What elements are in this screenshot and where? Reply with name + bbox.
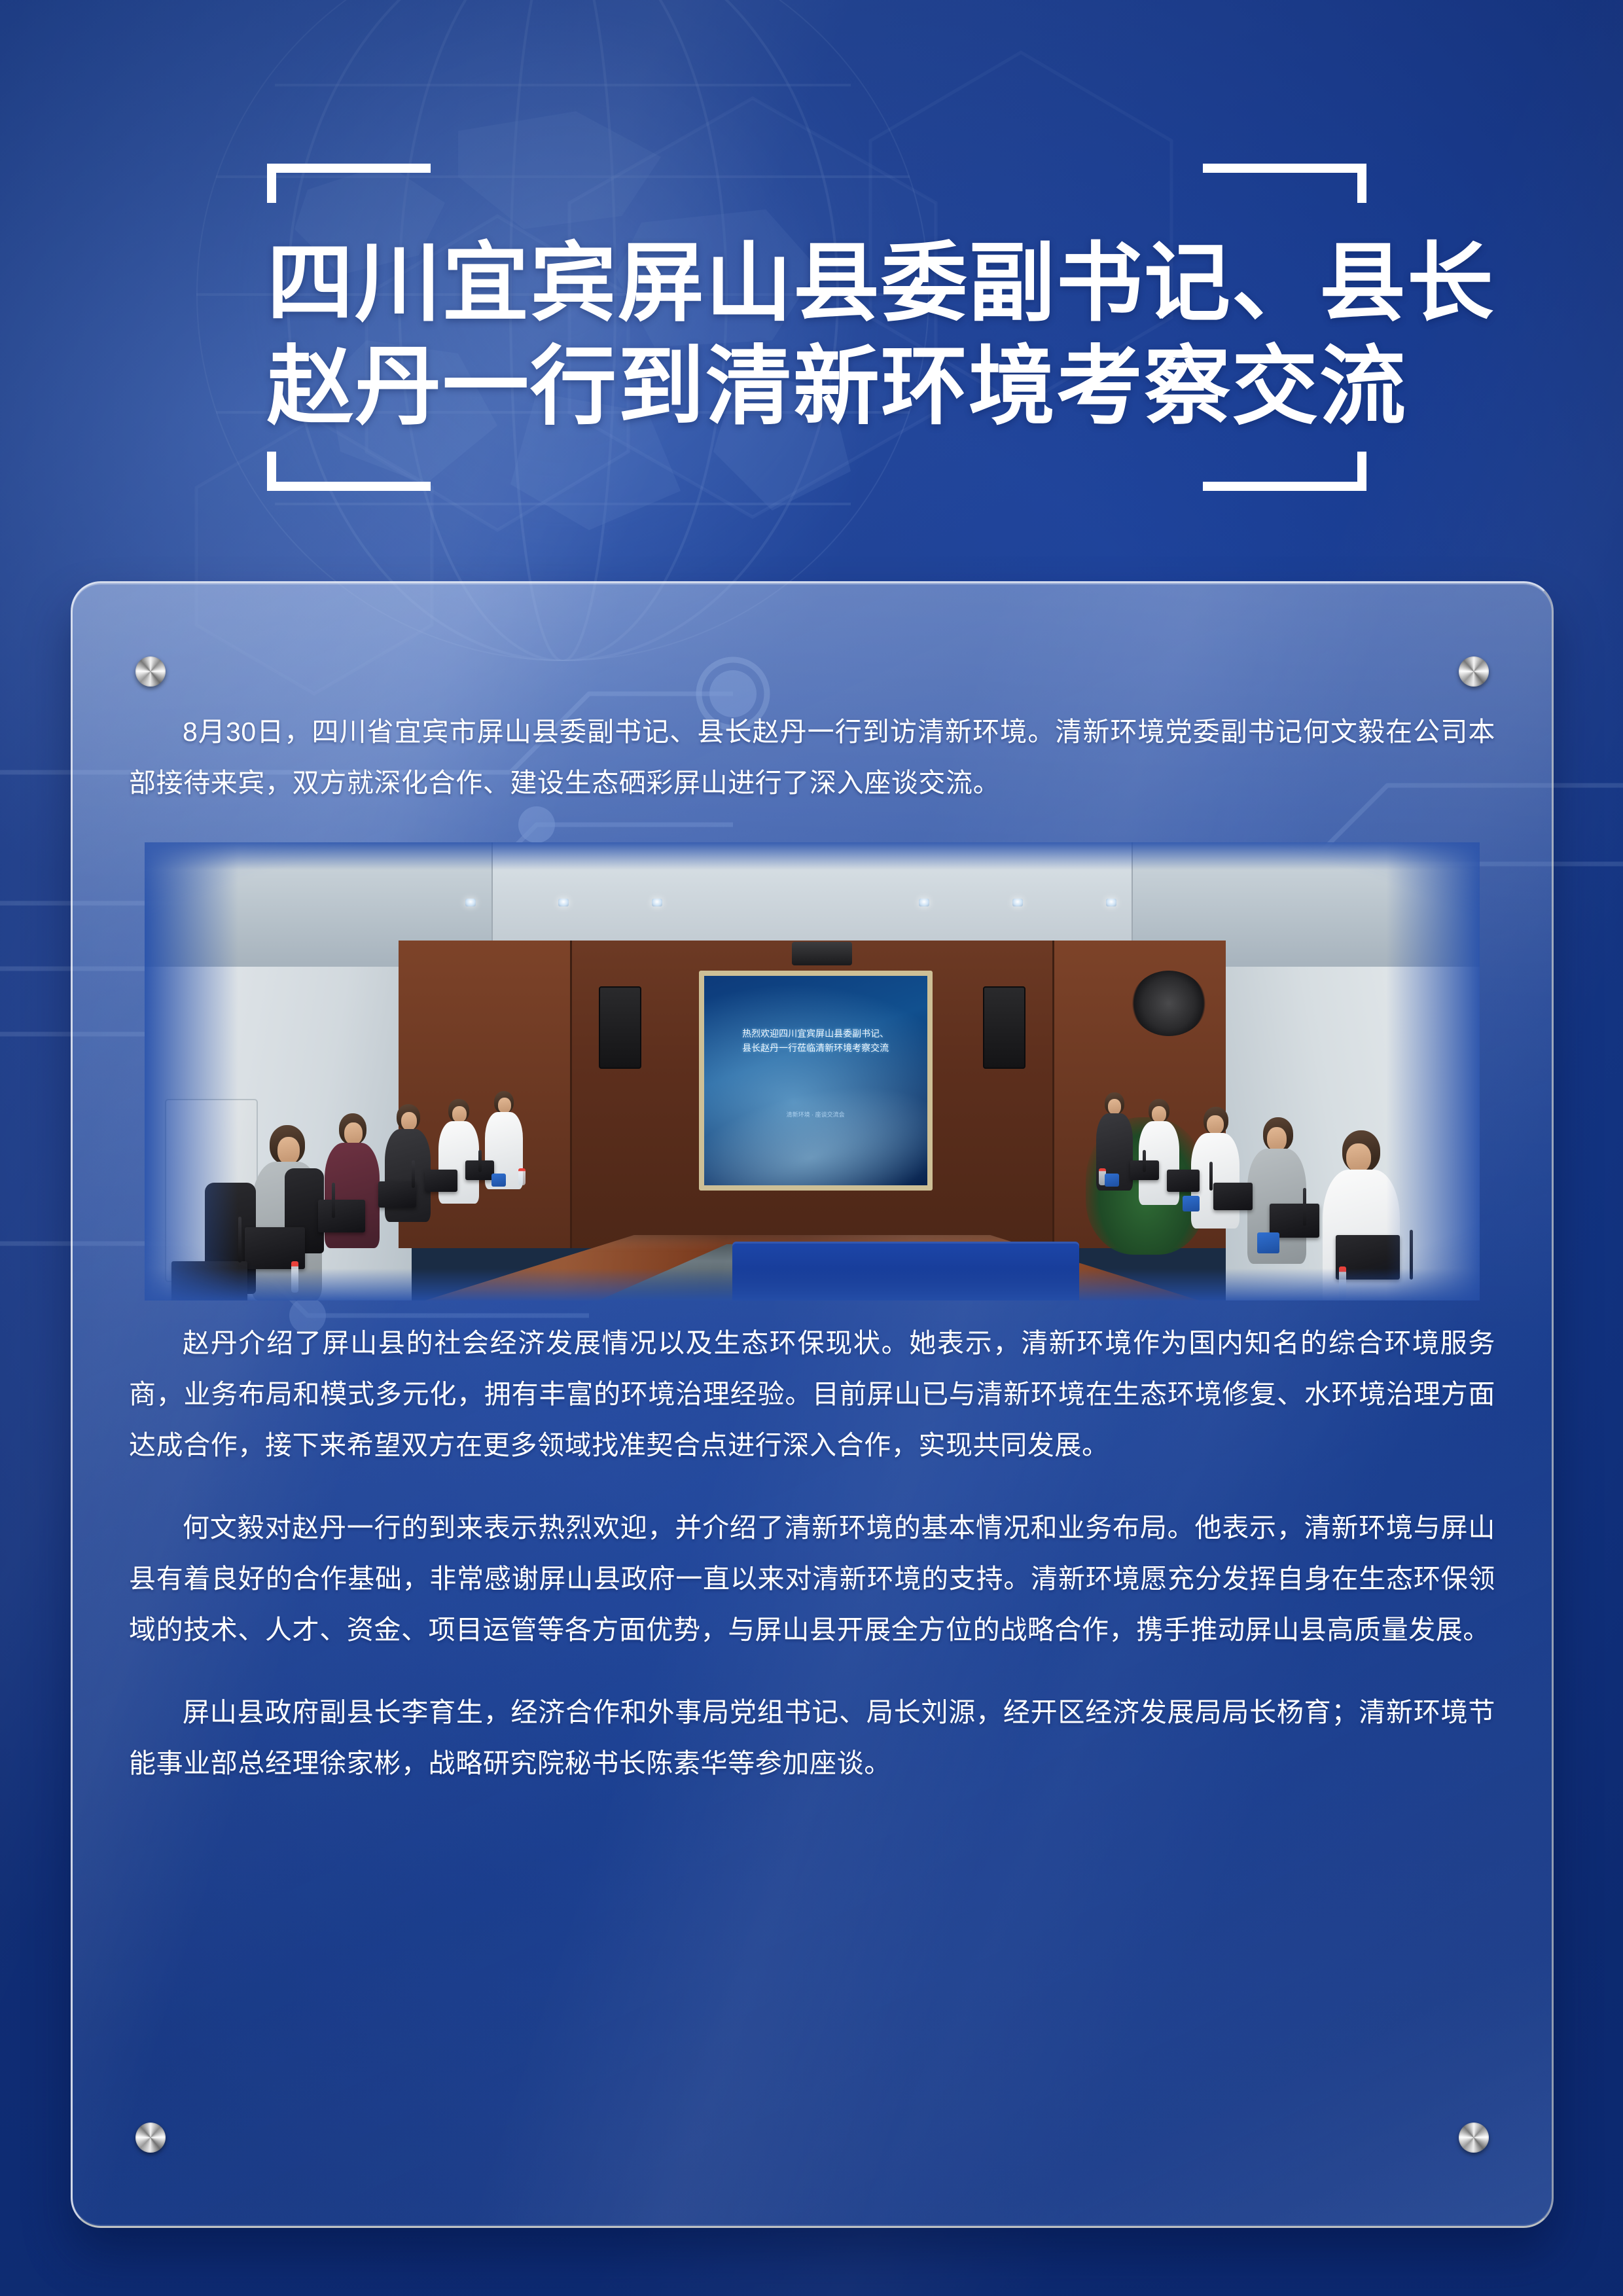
- meeting-photo: 热烈欢迎四川宜宾屏山县委副书记、 县长赵丹一行莅临清新环境考察交流 清新环境 ·…: [145, 842, 1480, 1300]
- photo-water-bottle: [518, 1168, 526, 1185]
- photo-monitor: [425, 1170, 457, 1192]
- photo-screen-subtitle: 清新环境 · 座谈交流会: [704, 1110, 927, 1119]
- poster-root: 四川宜宾屏山县委副书记、县长 赵丹一行到清新环境考察交流 8月30日，四川省宜宾…: [0, 0, 1623, 2296]
- paragraph-2: 赵丹介绍了屏山县的社会经济发展情况以及生态环保现状。她表示，清新环境作为国内知名…: [129, 1318, 1495, 1471]
- photo-ceiling-light: [652, 899, 662, 906]
- photo-monitor: [171, 1261, 247, 1300]
- rivet-top-right-icon: [1459, 656, 1489, 687]
- paragraph-3: 何文毅对赵丹一行的到来表示热烈欢迎，并介绍了清新环境的基本情况和业务布局。他表示…: [129, 1502, 1495, 1655]
- photo-microphone: [1209, 1162, 1213, 1191]
- photo-screen-welcome-line-1: 热烈欢迎四川宜宾屏山县委副书记、: [717, 1026, 914, 1041]
- photo-monitor: [378, 1181, 416, 1208]
- paragraph-4: 屏山县政府副县长李育生，经济合作和外事局党组书记、局长刘源，经开区经济发展局局长…: [129, 1687, 1495, 1789]
- photo-ceiling-light: [1106, 899, 1116, 906]
- photo-tissue-box: [1257, 1232, 1279, 1253]
- photo-monitor: [1213, 1183, 1253, 1210]
- photo-ceiling-panel: [491, 842, 1132, 941]
- photo-speaker-left: [599, 986, 641, 1069]
- photo-microphone: [478, 1150, 482, 1172]
- title-line-1: 四川宜宾屏山县委副书记、县长: [267, 232, 1366, 335]
- photo-ceiling-light: [465, 899, 476, 906]
- rivet-top-left-icon: [135, 656, 166, 687]
- article-card: 8月30日，四川省宜宾市屏山县委副书记、县长赵丹一行到访清新环境。清新环境党委副…: [71, 581, 1554, 2228]
- photo-microphone: [332, 1183, 335, 1218]
- photo-tissue-box: [1183, 1196, 1200, 1211]
- photo-tissue-box: [1105, 1174, 1119, 1187]
- photo-microphone: [238, 1217, 241, 1263]
- title-line-2: 赵丹一行到清新环境考察交流: [267, 335, 1366, 439]
- photo-wall-fan: [1132, 971, 1206, 1036]
- photo-tissue-box: [491, 1174, 506, 1187]
- poster-title-block: 四川宜宾屏山县委副书记、县长 赵丹一行到清新环境考察交流: [267, 164, 1366, 491]
- photo-ceiling-light: [919, 899, 929, 906]
- photo-ceiling-light: [558, 899, 569, 906]
- photo-screen-welcome-line-2: 县长赵丹一行莅临清新环境考察交流: [717, 1041, 914, 1055]
- photo-projection-screen-frame: 热烈欢迎四川宜宾屏山县委副书记、 县长赵丹一行莅临清新环境考察交流 清新环境 ·…: [699, 971, 933, 1191]
- photo-microphone: [412, 1160, 415, 1188]
- photo-water-bottle: [1339, 1266, 1346, 1299]
- photo-microphone: [1303, 1188, 1306, 1226]
- page-title: 四川宜宾屏山县委副书记、县长 赵丹一行到清新环境考察交流: [267, 232, 1366, 439]
- paragraph-1: 8月30日，四川省宜宾市屏山县委副书记、县长赵丹一行到访清新环境。清新环境党委副…: [129, 706, 1495, 808]
- photo-ceiling-light: [1012, 899, 1023, 906]
- photo-microphone: [1410, 1230, 1413, 1280]
- photo-projector: [792, 942, 852, 965]
- photo-microphone: [1143, 1150, 1146, 1172]
- photo-water-bottle: [291, 1261, 298, 1293]
- photo-screen-welcome-text: 热烈欢迎四川宜宾屏山县委副书记、 县长赵丹一行莅临清新环境考察交流: [717, 1026, 914, 1055]
- photo-foreground-monitor: [732, 1242, 1079, 1300]
- article-body: 8月30日，四川省宜宾市屏山县委副书记、县长赵丹一行到访清新环境。清新环境党委副…: [129, 706, 1495, 2128]
- photo-monitor: [1167, 1170, 1200, 1192]
- photo-projection-screen: 热烈欢迎四川宜宾屏山县委副书记、 县长赵丹一行莅临清新环境考察交流 清新环境 ·…: [704, 976, 927, 1185]
- photo-monitor: [318, 1200, 365, 1232]
- photo-speaker-right: [983, 986, 1026, 1069]
- meeting-photo-wrapper: 热烈欢迎四川宜宾屏山县委副书记、 县长赵丹一行莅临清新环境考察交流 清新环境 ·…: [129, 842, 1495, 1300]
